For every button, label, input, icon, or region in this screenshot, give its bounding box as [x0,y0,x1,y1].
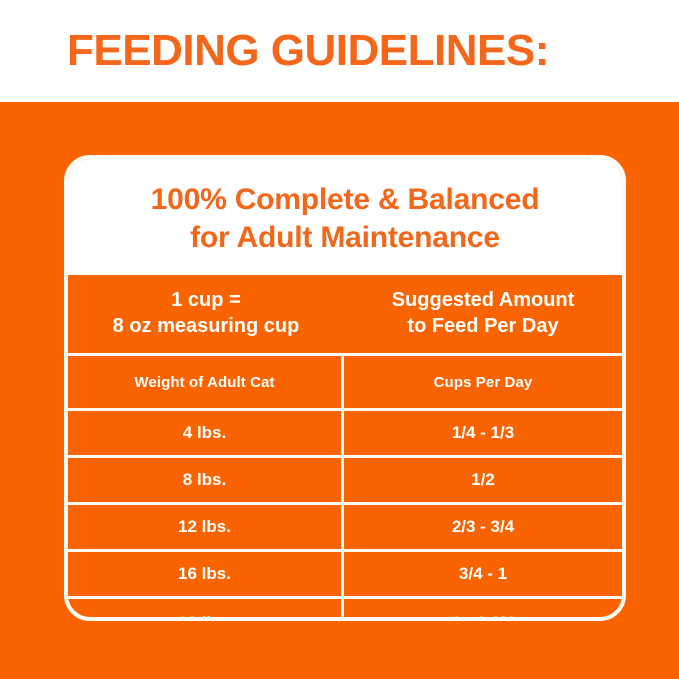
table-row: 8 lbs. 1/2 [68,455,622,502]
suggested-amount-line-1: Suggested Amount [350,287,616,313]
measurement-note-cell: 1 cup = 8 oz measuring cup [68,275,344,353]
card-title-block: 100% Complete & Balanced for Adult Maint… [68,159,622,275]
column-header-weight: Weight of Adult Cat [68,356,344,408]
header-band: FEEDING GUIDELINES: [0,0,679,102]
cell-cups: 3/4 - 1 [344,552,622,596]
measurement-note-line-2: 8 oz measuring cup [74,313,338,339]
feeding-guidelines-page: FEEDING GUIDELINES: 100% Complete & Bala… [0,0,679,679]
card-title-line-2: for Adult Maintenance [78,219,612,257]
cell-weight: 16 lbs. [68,552,344,596]
column-header-cups: Cups Per Day [344,356,622,408]
table-row: 12 lbs. 2/3 - 3/4 [68,502,622,549]
table-row: 16 lbs. 3/4 - 1 [68,549,622,596]
cell-weight: 22 lbs. [68,599,344,621]
cell-weight: 8 lbs. [68,458,344,502]
suggested-amount-cell: Suggested Amount to Feed Per Day [344,275,622,353]
suggested-amount-line-2: to Feed Per Day [350,313,616,339]
card-title-line-1: 100% Complete & Balanced [78,181,612,219]
table-row: 22 lbs. 1 - 1 1/4 [68,596,622,621]
cell-weight: 12 lbs. [68,505,344,549]
cell-cups: 2/3 - 3/4 [344,505,622,549]
table-row: 4 lbs. 1/4 - 1/3 [68,408,622,455]
cell-cups: 1/2 [344,458,622,502]
measurement-header-row: 1 cup = 8 oz measuring cup Suggested Amo… [68,275,622,353]
feeding-table: Weight of Adult Cat Cups Per Day 4 lbs. … [68,353,622,621]
page-title: FEEDING GUIDELINES: [67,27,549,75]
feeding-guidelines-card: 100% Complete & Balanced for Adult Maint… [64,155,626,621]
measurement-note-line-1: 1 cup = [74,287,338,313]
cell-cups: 1 - 1 1/4 [344,599,622,621]
cell-cups: 1/4 - 1/3 [344,411,622,455]
table-header-row: Weight of Adult Cat Cups Per Day [68,353,622,408]
cell-weight: 4 lbs. [68,411,344,455]
